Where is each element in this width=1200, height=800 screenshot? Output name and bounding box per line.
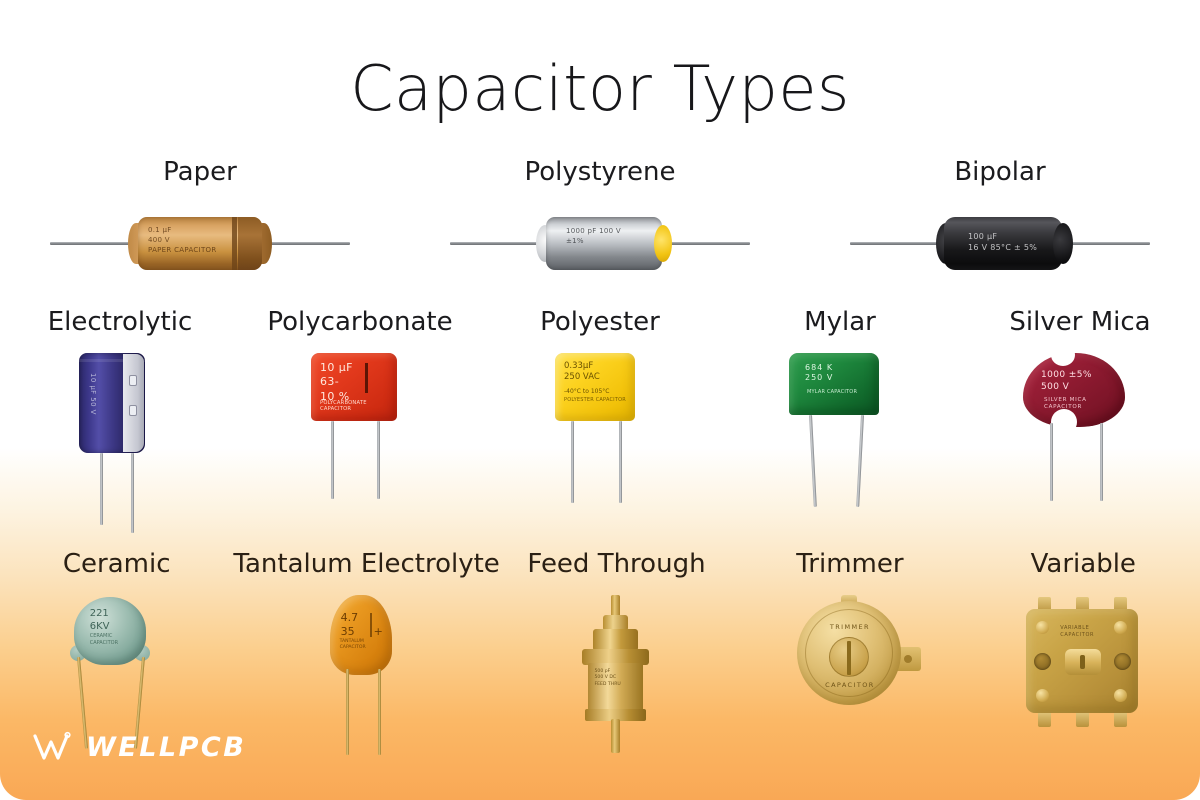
body-print-feed-through: 500 pF 500 V DC FEED THRU (594, 669, 620, 690)
lead-left (850, 242, 946, 245)
capacitor-row-axial: Paper 0.1 µF 400 V PAPER CAPACITOR Polys… (0, 158, 1200, 283)
capacitor-art-paper: 0.1 µF 400 V PAPER CAPACITOR (50, 203, 350, 283)
body-subprint-polyester: POLYESTER CAPACITOR (564, 397, 626, 403)
feed-through-capacitor-icon: 500 pF 500 V DC FEED THRU (541, 595, 691, 760)
capacitor-label-tantalum: Tantalum Electrolyte (233, 550, 499, 579)
tantalum-capacitor-icon: 4.7 35 + TANTALUM CAPACITOR (292, 595, 442, 760)
minus-marker (129, 375, 137, 386)
corner-screw (1114, 689, 1127, 702)
capacitor-label-ceramic: Ceramic (63, 550, 171, 579)
capacitor-label-feed-through: Feed Through (527, 550, 705, 579)
capacitor-art-polyester: 0.33µF 250 VAC -40°C to 105°C POLYESTER … (525, 353, 675, 528)
lead-left (331, 421, 334, 499)
end-cap-right-yellow (654, 225, 672, 262)
capacitor-label-bipolar: Bipolar (954, 158, 1045, 187)
bipolar-capacitor-icon: 100 µF 16 V 85°C ± 5% (850, 203, 1150, 283)
capacitor-art-polystyrene: 1000 pF 100 V ±1% (450, 203, 750, 283)
brand-name: WELLPCB (86, 732, 246, 763)
lead-right (856, 415, 864, 507)
corner-screw (1114, 621, 1127, 634)
minus-marker (129, 405, 137, 416)
capacitor-art-polycarbonate: 10 µF 63- 10 % POLYCARBONATE CAPACITOR (285, 353, 435, 528)
capacitor-types-card: Capacitor Types Paper 0.1 µF 400 V PAPER… (0, 0, 1200, 800)
end-cap-right (1053, 223, 1073, 264)
mylar-capacitor-icon: 684 K 250 V MYLAR CAPACITOR (765, 353, 915, 528)
body-print-tantalum: 4.7 35 (341, 611, 359, 640)
lead-left (809, 415, 817, 507)
polarity-plus-marker: + (374, 625, 383, 638)
terminal-bottom (611, 719, 620, 753)
polystyrene-capacitor-icon: 1000 pF 100 V ±1% (450, 203, 750, 283)
capacitor-art-trimmer: TRIMMER CAPACITOR (775, 595, 925, 760)
capacitor-art-electrolytic: 10 µF 50 V (45, 353, 195, 528)
side-hole-left (1034, 653, 1051, 670)
capacitor-cell-mylar: Mylar 684 K 250 V MYLAR CAPACITOR (720, 308, 960, 528)
terminal-pin (1076, 711, 1089, 727)
body-print-polycarbonate: 10 µF 63- 10 % (320, 361, 353, 406)
polyester-capacitor-icon: 0.33µF 250 VAC -40°C to 105°C POLYESTER … (525, 353, 675, 528)
capacitor-label-polyester: Polyester (540, 308, 660, 337)
lead-right (377, 421, 380, 499)
capacitor-cell-tantalum: Tantalum Electrolyte 4.7 35 + TANTALUM C… (233, 550, 499, 760)
capacitor-label-variable: Variable (1031, 550, 1136, 579)
body-subprint-tantalum: TANTALUM CAPACITOR (340, 639, 366, 652)
capacitor-label-electrolytic: Electrolytic (48, 308, 193, 337)
corner-screw (1036, 621, 1049, 634)
polycarbonate-capacitor-icon: 10 µF 63- 10 % POLYCARBONATE CAPACITOR (285, 353, 435, 528)
body-stripe-dark (238, 217, 262, 270)
capacitor-cell-electrolytic: Electrolytic 10 µF 50 V (0, 308, 240, 528)
body-notch-bottom (1051, 409, 1077, 435)
capacitor-label-trimmer: Trimmer (796, 550, 903, 579)
corner-screw (1036, 689, 1049, 702)
lead-right (619, 421, 622, 503)
wellpcb-w-mark (32, 730, 76, 764)
capacitor-body: 10 µF 63- 10 % POLYCARBONATE CAPACITOR (311, 353, 397, 421)
lead-right (1100, 423, 1103, 501)
capacitor-body: 1000 pF 100 V ±1% (546, 217, 662, 270)
body-print-silver-mica: 1000 ±5% 500 V (1041, 369, 1092, 393)
lead-left (346, 669, 349, 755)
body-print-variable: VARIABLE CAPACITOR (1060, 625, 1094, 640)
terminal-pin (1114, 711, 1127, 727)
paper-capacitor-icon: 0.1 µF 400 V PAPER CAPACITOR (50, 203, 350, 283)
capacitor-label-polycarbonate: Polycarbonate (267, 308, 452, 337)
lead-left (450, 242, 546, 245)
adjustment-shaft[interactable] (1065, 649, 1101, 675)
body-print2-polyester: -40°C to 105°C (564, 388, 609, 395)
electrolytic-capacitor-icon: 10 µF 50 V (45, 353, 195, 528)
body-subprint-polycarbonate: POLYCARBONATE CAPACITOR (320, 400, 397, 412)
capacitor-art-mylar: 684 K 250 V MYLAR CAPACITOR (765, 353, 915, 528)
body-print-polystyrene: 1000 pF 100 V ±1% (566, 226, 621, 246)
terminal-top (611, 595, 620, 617)
body-hex-nut (593, 629, 638, 651)
body-print-polyester: 0.33µF 250 VAC (564, 361, 600, 384)
capacitor-body: 100 µF 16 V 85°C ± 5% (944, 217, 1062, 270)
body-bar-marker (365, 363, 368, 393)
capacitor-cell-ceramic: Ceramic 221 6KV CERAMIC CAPACITOR (0, 550, 233, 760)
lead-right (131, 453, 134, 533)
polarity-stripe (123, 354, 144, 452)
capacitor-label-mylar: Mylar (804, 308, 876, 337)
capacitor-cell-variable: Variable VARIABLE CAPACITOR (967, 550, 1200, 760)
variable-capacitor-icon: VARIABLE CAPACITOR (1008, 595, 1158, 760)
body-print-mylar: 684 K 250 V (805, 363, 833, 385)
body-subprint-ceramic: CERAMIC CAPACITOR (90, 633, 118, 647)
capacitor-label-paper: Paper (163, 158, 237, 187)
capacitor-art-variable: VARIABLE CAPACITOR (1008, 595, 1158, 760)
capacitor-art-feed-through: 500 pF 500 V DC FEED THRU (541, 595, 691, 760)
capacitor-label-silver-mica: Silver Mica (1009, 308, 1150, 337)
silver-mica-capacitor-icon: 1000 ±5% 500 V SILVER MICA CAPACITOR (1005, 353, 1155, 528)
brand-logo: WELLPCB (32, 730, 246, 764)
adjustment-slot[interactable] (829, 637, 869, 677)
body-subprint-mylar: MYLAR CAPACITOR (807, 389, 857, 395)
body-print-ceramic: 221 6KV (90, 607, 110, 633)
capacitor-row-radial: Electrolytic 10 µF 50 V Polycarbonate (0, 308, 1200, 528)
lead-right (378, 669, 381, 755)
body-notch-top (1051, 344, 1075, 366)
terminal-pin (1038, 711, 1051, 727)
capacitor-cell-silver-mica: Silver Mica 1000 ±5% 500 V SILVER MICA C… (960, 308, 1200, 528)
capacitor-body (74, 597, 146, 665)
capacitor-art-silver-mica: 1000 ±5% 500 V SILVER MICA CAPACITOR (1005, 353, 1155, 528)
body-stripe-line (232, 217, 237, 270)
body-subprint-silver-mica: SILVER MICA CAPACITOR (1044, 397, 1087, 413)
capacitor-cell-polyester: Polyester 0.33µF 250 VAC -40°C to 105°C … (480, 308, 720, 528)
capacitor-cell-polystyrene: Polystyrene 1000 pF 100 V ±1% (400, 158, 800, 283)
body-bar-marker (370, 613, 372, 637)
lead-left (571, 421, 574, 503)
trimmer-capacitor-icon: TRIMMER CAPACITOR (775, 595, 925, 760)
body-print-electrolytic: 10 µF 50 V (89, 373, 97, 415)
capacitor-cell-bipolar: Bipolar 100 µF 16 V 85°C ± 5% (800, 158, 1200, 283)
body-print-trimmer-bottom: CAPACITOR (775, 681, 925, 689)
body-print-bipolar: 100 µF 16 V 85°C ± 5% (968, 231, 1037, 254)
body-print-paper: 0.1 µF 400 V PAPER CAPACITOR (148, 225, 217, 255)
capacitor-cell-polycarbonate: Polycarbonate 10 µF 63- 10 % POLYCARBONA… (240, 308, 480, 528)
capacitor-row-misc: Ceramic 221 6KV CERAMIC CAPACITOR Tantal… (0, 550, 1200, 760)
capacitor-art-bipolar: 100 µF 16 V 85°C ± 5% (850, 203, 1150, 283)
capacitor-body: 684 K 250 V MYLAR CAPACITOR (789, 353, 879, 415)
body-print-trimmer-top: TRIMMER (775, 623, 925, 631)
capacitor-label-polystyrene: Polystyrene (525, 158, 676, 187)
capacitor-art-tantalum: 4.7 35 + TANTALUM CAPACITOR (292, 595, 442, 760)
side-hole-right (1114, 653, 1131, 670)
lead-left (1050, 423, 1053, 501)
page-title: Capacitor Types (0, 52, 1200, 125)
capacitor-cell-feed-through: Feed Through 500 pF 500 V DC FEED THRU (500, 550, 733, 760)
capacitor-body: 0.33µF 250 VAC -40°C to 105°C POLYESTER … (555, 353, 635, 421)
lead-left (100, 453, 103, 525)
capacitor-cell-paper: Paper 0.1 µF 400 V PAPER CAPACITOR (0, 158, 400, 283)
capacitor-cell-trimmer: Trimmer TRIMMER CAPACITOR (733, 550, 966, 760)
